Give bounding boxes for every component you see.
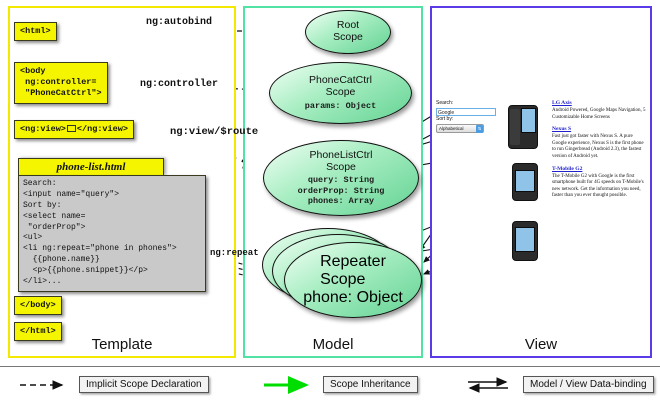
scope-phonelistctrl-props: query: String orderProp: String phones: … [298,175,385,206]
scope-root: Root Scope [305,10,391,54]
phone-name-link[interactable]: T-Mobile G2 [552,166,648,172]
legend-item-implicit-scope: Implicit Scope Declaration [18,376,209,393]
list-item: T-Mobile G2 The T-Mobile G2 with Google … [552,166,648,200]
ng-view-slot-icon [67,125,76,132]
diagram-canvas: Template Model View <html> <body ng:cont… [0,0,660,405]
legend-item-data-binding: Model / View Data-binding [466,376,654,393]
legend-item-scope-inheritance: Scope Inheritance [262,376,418,393]
partial-template-code: Search: <input name="query"> Sort by: <s… [18,175,206,292]
scope-repeater-front: Repeater Scope phone: Object [284,242,422,318]
partial-template-title: phone-list.html [18,158,164,175]
list-item: Nexus S Fast just got faster with Nexus … [552,126,648,160]
phone-thumbnail-lg-axis [508,105,538,149]
html-open-tag-box: <html> [14,22,57,41]
body-open-tag-box: <body ng:controller= "PhoneCatCtrl"> [14,62,108,104]
scope-root-title: Root Scope [333,20,363,44]
sort-select-value: Alphabetical [439,126,464,131]
sort-label: Sort by: [436,116,500,124]
sort-select[interactable]: Alphabetical ⇅ [436,124,484,133]
connector-label-repeat: ng:repeat [210,248,259,258]
panel-view-label: View [432,336,650,353]
legend-label-scope-inheritance: Scope Inheritance [323,376,418,393]
connector-label-autobind: ng:autobind [146,17,212,28]
search-form: Search: Google Sort by: Alphabetical ⇅ [436,100,500,133]
scope-phonecatctrl-props: params: Object [305,101,376,111]
phone-snippet: Android Powered, Google Maps Navigation,… [552,108,648,121]
dashed-arrow-icon [18,379,72,391]
phone-name-link[interactable]: Nexus S [552,126,648,132]
search-label: Search: [436,100,500,108]
phone-list: LG Axis Android Powered, Google Maps Nav… [552,100,648,205]
phone-thumbnail-nexus-s [512,163,538,201]
updown-arrow-icon: ⇅ [476,125,483,133]
ng-view-tag-box: <ng:view></ng:view> [14,120,134,139]
html-close-tag-box: </html> [14,322,62,341]
ng-view-open-label: <ng:view> [20,124,66,134]
ng-view-close-label: </ng:view> [77,124,128,134]
legend: Implicit Scope Declaration Scope Inherit… [0,366,660,405]
panel-model-label: Model [245,336,421,353]
scope-repeater-props: phone: Object [303,289,403,307]
connector-label-controller: ng:controller [140,79,218,90]
partial-template-callout: phone-list.html Search: <input name="que… [18,158,206,292]
scope-phonecatctrl: PhoneCatCtrl Scope params: Object [269,62,412,124]
scope-phonecatctrl-title: PhoneCatCtrl Scope [309,75,372,99]
connector-label-ngview: ng:view/$route [170,126,258,138]
green-arrow-icon [262,379,316,391]
scope-repeater-title: Repeater Scope [320,253,386,289]
scope-phonelistctrl-title: PhoneListCtrl Scope [309,150,372,174]
legend-label-data-binding: Model / View Data-binding [523,376,654,393]
phone-snippet: Fast just got faster with Nexus S. A pur… [552,134,648,160]
scope-phonelistctrl: PhoneListCtrl Scope query: String orderP… [263,140,419,216]
scope-repeater-stack: Repeater Scope phone: Object [262,228,424,320]
phone-thumbnail-tmobile-g2 [512,221,538,261]
phone-snippet: The T-Mobile G2 with Google is the first… [552,174,648,200]
search-input[interactable]: Google [436,108,496,116]
body-close-tag-box: </body> [14,296,62,315]
phone-name-link[interactable]: LG Axis [552,100,648,106]
list-item: LG Axis Android Powered, Google Maps Nav… [552,100,648,121]
legend-label-implicit-scope: Implicit Scope Declaration [79,376,209,393]
double-arrow-icon [466,377,516,393]
